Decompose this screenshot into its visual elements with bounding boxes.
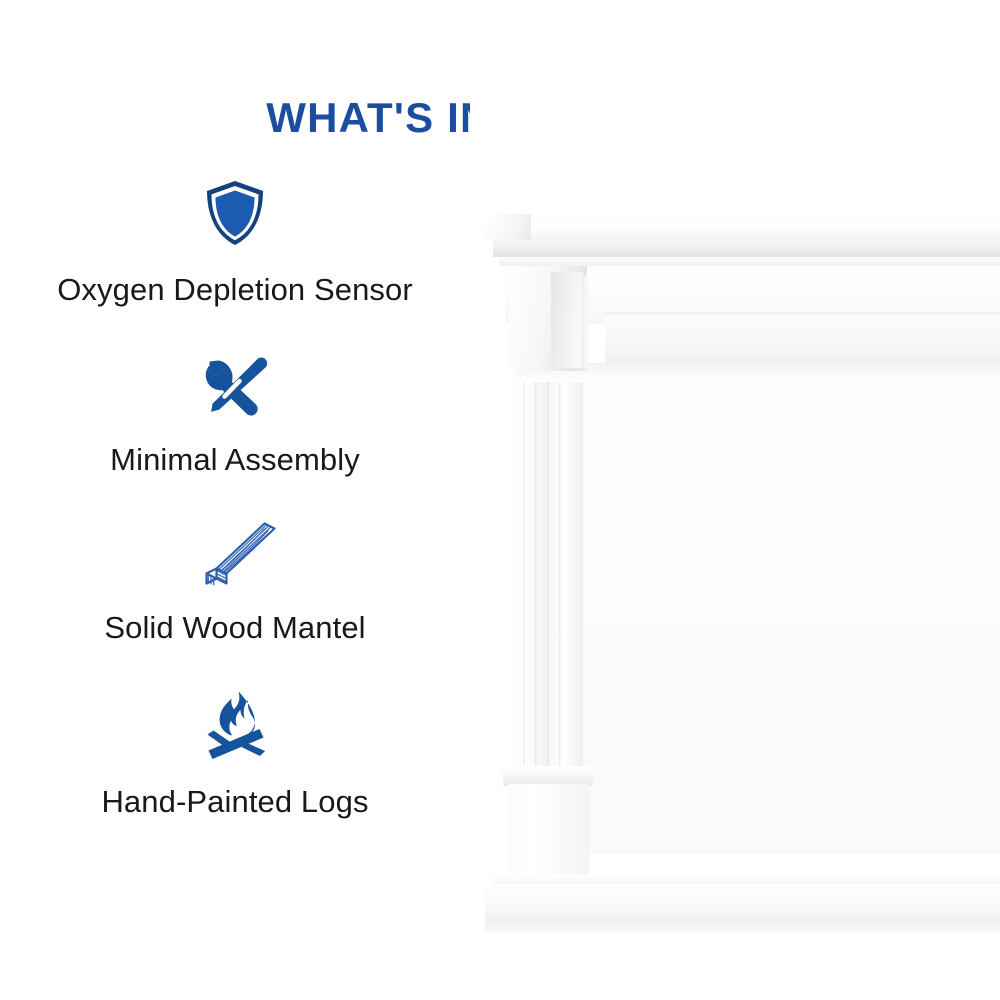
mantel-frieze-lower: [605, 315, 1000, 363]
pilaster-plinth-cap: [503, 766, 593, 786]
wood-plank-icon: [0, 510, 470, 596]
product-photo-fireplace: [470, 0, 1000, 1000]
hearth-base-lip: [485, 920, 1000, 932]
campfire-icon: [0, 682, 470, 768]
mantel-corbel-edge: [581, 276, 588, 368]
shield-icon: [0, 170, 470, 256]
feature-item-oxygen-depletion-sensor: Oxygen Depletion Sensor: [0, 170, 470, 308]
mantel-pilaster-left: [513, 382, 583, 772]
tools-icon: [0, 344, 470, 430]
feature-list: Oxygen Depletion Sensor: [0, 170, 470, 820]
feature-item-hand-painted-logs: Hand-Painted Logs: [0, 682, 470, 820]
feature-label: Oxygen Depletion Sensor: [0, 272, 470, 308]
pilaster-flute: [523, 382, 525, 772]
fireplace-mantel: [485, 214, 1000, 860]
pilaster-flute: [535, 382, 537, 772]
feature-label: Solid Wood Mantel: [0, 610, 470, 646]
pilaster-flute: [547, 382, 549, 772]
feature-label: Minimal Assembly: [0, 442, 470, 478]
pilaster-flute: [559, 382, 561, 772]
feature-label: Hand-Painted Logs: [0, 784, 470, 820]
mantel-crown-top: [485, 214, 1000, 240]
pilaster-plinth-body: [509, 784, 589, 882]
feature-item-solid-wood-mantel: Solid Wood Mantel: [0, 510, 470, 646]
infographic-page: WHAT'S INCLUDED Oxygen Depletion Sensor: [0, 0, 1000, 1000]
feature-item-minimal-assembly: Minimal Assembly: [0, 344, 470, 478]
mantel-crown-bevel: [493, 240, 1000, 257]
mantel-corbel-face: [551, 272, 583, 368]
mantel-crown-bevel-lower: [499, 257, 1000, 266]
firebox-surround-panel: [583, 382, 1000, 854]
